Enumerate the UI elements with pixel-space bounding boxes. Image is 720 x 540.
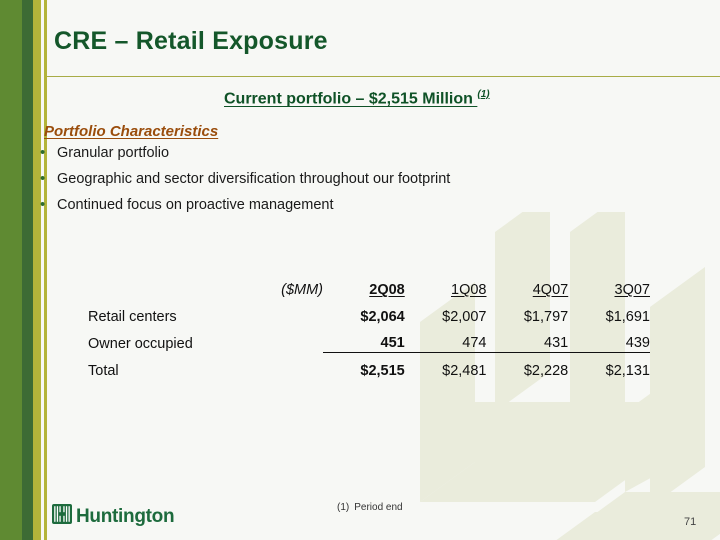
- bullet-dot-icon: •: [40, 144, 57, 162]
- list-item: • Geographic and sector diversification …: [40, 170, 600, 193]
- portfolio-characteristics-list: • Granular portfolio • Geographic and se…: [40, 144, 600, 222]
- table-column-header-2q08: 2Q08: [323, 271, 405, 298]
- table-row: Total $2,515 $2,481 $2,228 $2,131: [88, 352, 650, 379]
- table-row: Retail centers $2,064 $2,007 $1,797 $1,6…: [88, 298, 650, 325]
- portfolio-subtitle-text: Current portfolio – $2,515 Million: [224, 90, 477, 107]
- cell-total-4q07: $2,228: [486, 352, 568, 379]
- bullet-dot-icon: •: [40, 170, 57, 188]
- huntington-logo-text: Huntington: [76, 506, 174, 528]
- footnote: (1)Period end: [337, 502, 403, 513]
- stripe-gap-2: [47, 0, 50, 540]
- cell-total-3q07: $2,131: [568, 352, 650, 379]
- stripe-gold: [33, 0, 41, 540]
- list-item-label: Geographic and sector diversification th…: [57, 170, 450, 188]
- footnote-marker: (1): [337, 502, 349, 513]
- table-units-label: ($MM): [88, 271, 323, 298]
- cell-total-2q08: $2,515: [323, 352, 405, 379]
- cell-owner-occupied-4q07: 431: [486, 325, 568, 352]
- portfolio-subtitle-footnote-ref: (1): [477, 89, 489, 100]
- cell-total-1q08: $2,481: [405, 352, 487, 379]
- row-label-total: Total: [88, 352, 323, 379]
- title-divider: [47, 76, 720, 77]
- slide-canvas: CRE – Retail Exposure Current portfolio …: [0, 0, 720, 540]
- page-number: 71: [684, 516, 696, 528]
- list-item-label: Continued focus on proactive management: [57, 196, 333, 214]
- row-label-owner-occupied: Owner occupied: [88, 325, 323, 352]
- cell-retail-centers-2q08: $2,064: [323, 298, 405, 325]
- table-column-header-3q07: 3Q07: [568, 271, 650, 298]
- page-title: CRE – Retail Exposure: [54, 27, 328, 56]
- list-item-label: Granular portfolio: [57, 144, 169, 162]
- cell-owner-occupied-2q08: 451: [323, 325, 405, 352]
- cell-retail-centers-4q07: $1,797: [486, 298, 568, 325]
- table-column-header-1q08: 1Q08: [405, 271, 487, 298]
- stripe-olive: [0, 0, 22, 540]
- table-header-row: ($MM) 2Q08 1Q08 4Q07 3Q07: [88, 271, 650, 298]
- table-column-header-4q07: 4Q07: [486, 271, 568, 298]
- stripe-dark-green: [22, 0, 33, 540]
- bullet-dot-icon: •: [40, 196, 57, 214]
- list-item: • Granular portfolio: [40, 144, 600, 167]
- huntington-logo: Huntington: [52, 504, 174, 529]
- cell-owner-occupied-1q08: 474: [405, 325, 487, 352]
- list-item: • Continued focus on proactive managemen…: [40, 196, 600, 219]
- retail-exposure-table: ($MM) 2Q08 1Q08 4Q07 3Q07 Retail centers…: [88, 271, 650, 379]
- cell-owner-occupied-3q07: 439: [568, 325, 650, 352]
- footnote-text: Period end: [354, 502, 402, 513]
- portfolio-subtitle: Current portfolio – $2,515 Million (1): [224, 89, 490, 108]
- cell-retail-centers-1q08: $2,007: [405, 298, 487, 325]
- huntington-mark-icon: [52, 504, 72, 529]
- table-row: Owner occupied 451 474 431 439: [88, 325, 650, 352]
- row-label-retail-centers: Retail centers: [88, 298, 323, 325]
- section-heading-portfolio-characteristics: Portfolio Characteristics: [44, 123, 218, 140]
- cell-retail-centers-3q07: $1,691: [568, 298, 650, 325]
